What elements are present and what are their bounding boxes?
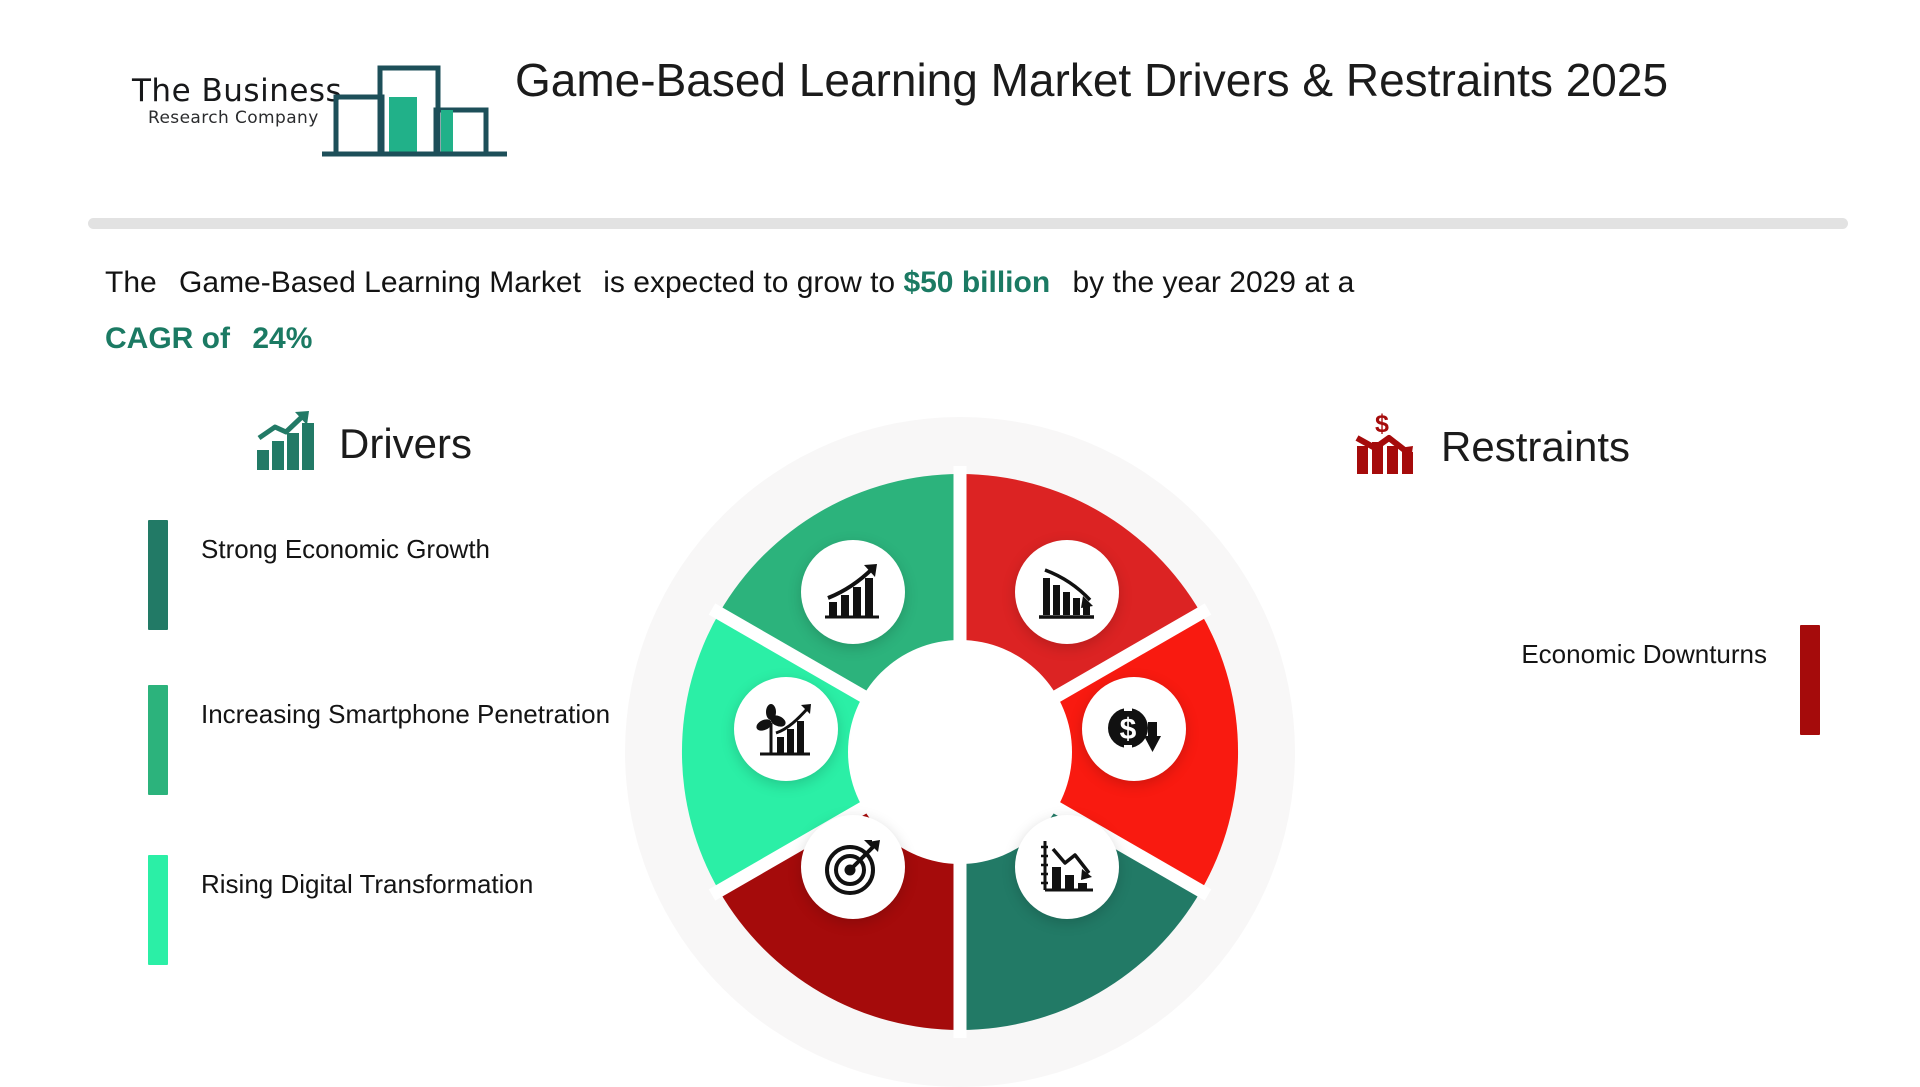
summary-cagr-label: CAGR of [105, 322, 230, 355]
driver-item-0: Strong Economic Growth [148, 520, 490, 630]
declining-bar-chart-arrow-icon [1015, 540, 1119, 644]
driver-label: Strong Economic Growth [201, 534, 490, 564]
summary-text-1: The [105, 266, 157, 299]
falling-line-bar-chart-icon [1015, 815, 1119, 919]
driver-accent-bar [148, 855, 168, 965]
target-dart-icon [801, 815, 905, 919]
driver-item-1: Increasing Smartphone Penetration [148, 685, 610, 795]
restraints-section-header: $ Restraints [1355, 412, 1630, 481]
restraints-title: Restraints [1441, 423, 1630, 471]
market-summary: The Game-Based Learning Market is expect… [105, 255, 1745, 367]
company-logo: The Business Research Company [132, 52, 452, 162]
page-title: Game-Based Learning Market Drivers & Res… [515, 53, 1668, 107]
restraint-label: Economic Downturns [1521, 639, 1767, 669]
rising-bar-chart-icon [255, 410, 317, 477]
header-divider [88, 218, 1848, 229]
drivers-title: Drivers [339, 420, 472, 468]
restraint-accent-bar [1800, 625, 1820, 735]
drivers-restraints-wheel: $ [660, 452, 1260, 1052]
summary-cagr-value: 24% [252, 322, 312, 355]
logo-line-2: Research Company [148, 108, 332, 128]
logo-wordmark: The Business Research Company [132, 74, 332, 128]
summary-text-2: is expected to grow to [603, 266, 895, 299]
driver-label: Increasing Smartphone Penetration [201, 699, 610, 729]
svg-text:$: $ [1375, 412, 1389, 438]
drivers-section-header: Drivers [255, 410, 472, 477]
driver-accent-bar [148, 685, 168, 795]
summary-market-value: $50 billion [903, 266, 1050, 299]
svg-text:$: $ [1120, 713, 1137, 746]
dollar-down-arrow-icon: $ [1082, 677, 1186, 781]
summary-market-name: Game-Based Learning Market [179, 266, 581, 299]
bar-chart-logo-icon [322, 52, 507, 167]
driver-accent-bar [148, 520, 168, 630]
plant-growth-bar-chart-icon [734, 677, 838, 781]
summary-text-3: by the year 2029 at a [1073, 266, 1355, 299]
logo-line-1: The Business [132, 74, 332, 108]
driver-label: Rising Digital Transformation [201, 869, 533, 899]
falling-bar-chart-dollar-icon: $ [1355, 412, 1419, 481]
growth-arrow-bar-chart-icon [801, 540, 905, 644]
page-header: The Business Research Company Game-Based… [0, 0, 1920, 175]
driver-item-2: Rising Digital Transformation [148, 855, 533, 965]
restraint-item-0: Economic Downturns [1300, 625, 1820, 735]
